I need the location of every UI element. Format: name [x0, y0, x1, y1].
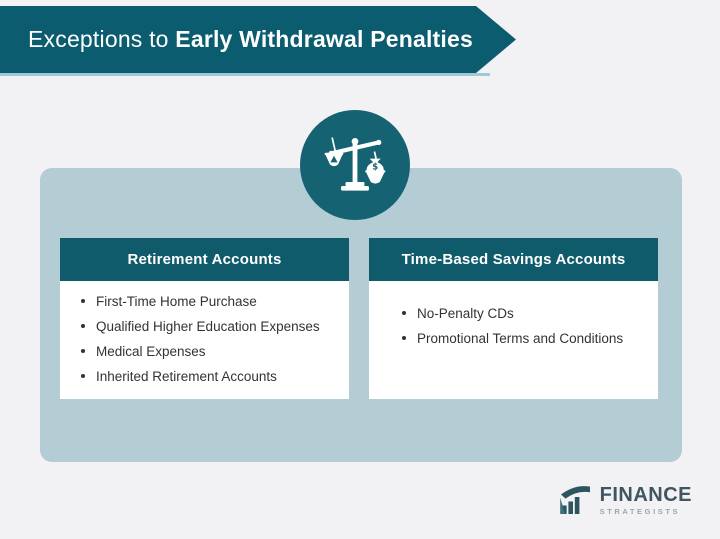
column-header-time-based-savings-accounts: Time-Based Savings Accounts — [369, 238, 658, 281]
page-title-light: Exceptions to — [28, 26, 175, 52]
title-banner: Exceptions to Early Withdrawal Penalties — [0, 6, 516, 73]
bullet-dot-icon — [81, 349, 85, 353]
bullet-dot-icon — [81, 374, 85, 378]
list-item: No-Penalty CDs — [395, 305, 644, 322]
list-item-label: Inherited Retirement Accounts — [96, 369, 277, 384]
list-item-label: Promotional Terms and Conditions — [417, 331, 623, 346]
bullet-dot-icon — [402, 311, 406, 315]
svg-text:$: $ — [372, 162, 378, 172]
list-item-label: Qualified Higher Education Expenses — [96, 319, 320, 334]
column-time-based-savings-accounts: Time-Based Savings Accounts No-Penalty C… — [369, 238, 658, 399]
list-item: Medical Expenses — [74, 343, 335, 360]
finance-strategists-logo: FINANCE STRATEGISTS — [559, 485, 692, 516]
list-item-label: No-Penalty CDs — [417, 306, 514, 321]
list-item: Inherited Retirement Accounts — [74, 368, 335, 385]
column-body-retirement-accounts: First-Time Home Purchase Qualified Highe… — [60, 281, 349, 399]
logo-primary-text: FINANCE — [600, 485, 692, 505]
list-item-label: First-Time Home Purchase — [96, 294, 257, 309]
list-item-label: Medical Expenses — [96, 344, 206, 359]
bullet-dot-icon — [81, 324, 85, 328]
list-item: Qualified Higher Education Expenses — [74, 318, 335, 335]
logo-secondary-text: STRATEGISTS — [600, 508, 692, 516]
bullet-dot-icon — [402, 336, 406, 340]
balance-scale-money-icon: $ — [300, 110, 410, 220]
page-title: Exceptions to Early Withdrawal Penalties — [28, 26, 473, 53]
bullet-dot-icon — [81, 299, 85, 303]
columns-container: Retirement Accounts First-Time Home Purc… — [60, 238, 658, 399]
bullet-list-time-based-savings-accounts: No-Penalty CDs Promotional Terms and Con… — [395, 305, 644, 347]
list-item: First-Time Home Purchase — [74, 293, 335, 310]
logo-text: FINANCE STRATEGISTS — [600, 485, 692, 516]
column-header-retirement-accounts: Retirement Accounts — [60, 238, 349, 281]
page-title-bold: Early Withdrawal Penalties — [175, 26, 473, 52]
column-retirement-accounts: Retirement Accounts First-Time Home Purc… — [60, 238, 349, 399]
logo-mark-icon — [559, 485, 593, 515]
bullet-list-retirement-accounts: First-Time Home Purchase Qualified Highe… — [74, 293, 335, 385]
list-item: Promotional Terms and Conditions — [395, 330, 644, 347]
column-body-time-based-savings-accounts: No-Penalty CDs Promotional Terms and Con… — [369, 281, 658, 399]
title-banner-underline — [0, 73, 490, 76]
